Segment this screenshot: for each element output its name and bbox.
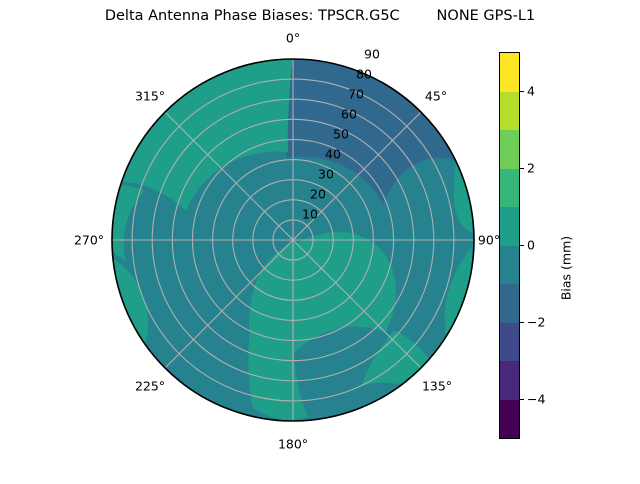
polar-figure: Delta Antenna Phase Biases: TPSCR.G5C NO… — [0, 0, 640, 480]
colorbar-tick-mark — [520, 168, 524, 169]
colorbar-band — [500, 207, 519, 246]
theta-tick-135: 135° — [422, 379, 452, 394]
colorbar-tick-mark — [520, 322, 524, 323]
colorbar-band — [500, 169, 519, 208]
colorbar-band — [500, 361, 519, 400]
r-tick-10: 10 — [302, 207, 318, 222]
theta-tick-0: 0° — [286, 31, 300, 46]
r-tick-20: 20 — [310, 187, 326, 202]
colorbar-band — [500, 246, 519, 285]
colorbar-band — [500, 53, 519, 92]
r-tick-70: 70 — [348, 87, 364, 102]
theta-tick-180: 180° — [278, 437, 308, 452]
colorbar-tick-label: 4 — [527, 83, 535, 98]
r-tick-90: 90 — [364, 47, 380, 62]
colorbar-band — [500, 130, 519, 169]
r-tick-60: 60 — [341, 107, 357, 122]
r-tick-40: 40 — [325, 147, 341, 162]
colorbar-tick-mark — [520, 399, 524, 400]
colorbar-tick-label: −2 — [527, 314, 545, 329]
r-tick-80: 80 — [356, 67, 372, 82]
theta-tick-225: 225° — [135, 379, 165, 394]
theta-tick-45: 45° — [425, 89, 447, 104]
colorbar-tick-mark — [520, 245, 524, 246]
colorbar-tick-label: 0 — [527, 237, 535, 252]
colorbar-band — [500, 323, 519, 362]
r-tick-30: 30 — [318, 167, 334, 182]
colorbar-band — [500, 284, 519, 323]
colorbar-band — [500, 400, 519, 439]
colorbar-tick-mark — [520, 91, 524, 92]
angular-grid — [112, 59, 474, 421]
colorbar — [499, 52, 520, 439]
theta-tick-270: 270° — [74, 233, 104, 248]
theta-tick-315: 315° — [135, 89, 165, 104]
colorbar-tick-label: −4 — [527, 391, 545, 406]
theta-tick-90: 90° — [478, 233, 500, 248]
r-tick-50: 50 — [333, 127, 349, 142]
colorbar-tick-label: 2 — [527, 160, 535, 175]
polar-axes: 0° 45° 90° 135° 180° 225° 270° 315° 10 2… — [0, 0, 640, 480]
colorbar-label: Bias (mm) — [559, 236, 574, 300]
colorbar-band — [500, 92, 519, 131]
